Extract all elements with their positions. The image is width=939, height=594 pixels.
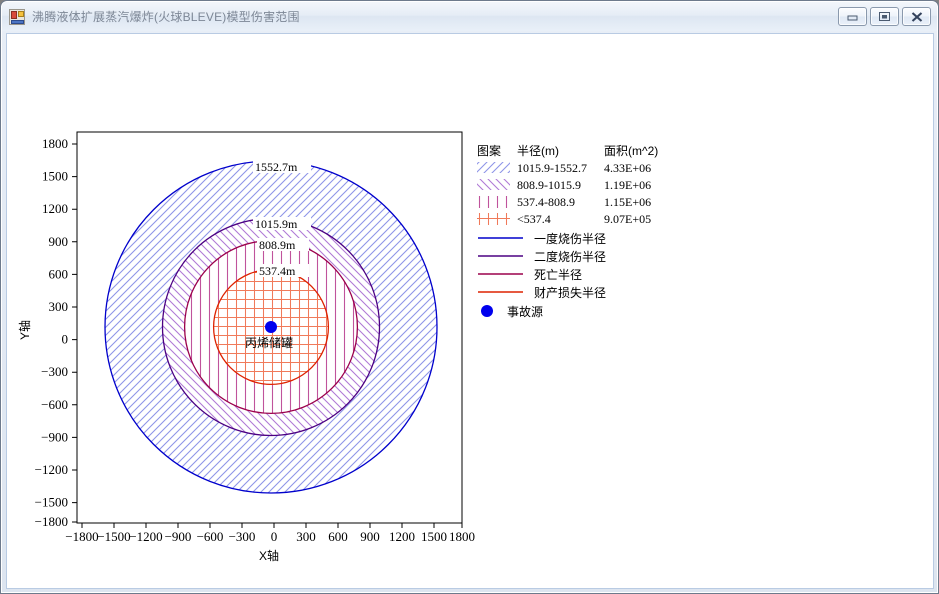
legend-row-marker: 事故源 <box>481 304 543 319</box>
x-tick-label: 1800 <box>449 529 475 544</box>
legend-header-radius: 半径(m) <box>517 144 559 158</box>
x-tick-label: 300 <box>296 529 316 544</box>
y-axis: 1800 1500 1200 900 600 300 0 −300 −600 −… <box>17 136 77 529</box>
x-tick-label: 0 <box>271 529 278 544</box>
x-tick-label: 1200 <box>389 529 415 544</box>
x-axis-title: X轴 <box>259 548 279 563</box>
legend-swatch-vertical-icon <box>477 196 510 208</box>
x-tick-label: −1500 <box>97 529 130 544</box>
y-tick-label: −1200 <box>35 462 68 477</box>
y-tick-label: 1500 <box>42 169 68 184</box>
x-tick-label: −1200 <box>129 529 162 544</box>
legend-band-area: 1.15E+06 <box>604 195 651 209</box>
close-button[interactable] <box>902 7 931 26</box>
x-tick-label: −300 <box>229 529 256 544</box>
legend-row-band: 808.9-1015.9 1.19E+06 <box>477 178 651 192</box>
legend-row-line: 财产损失半径 <box>478 285 606 300</box>
y-tick-label: −600 <box>41 397 68 412</box>
legend-line-label: 一度烧伤半径 <box>534 231 606 246</box>
legend-band-area: 1.19E+06 <box>604 178 651 192</box>
chart-legend: 图案 半径(m) 面积(m^2) 1015.9-1552.7 4.33E+06 … <box>477 143 658 319</box>
y-tick-label: −300 <box>41 364 68 379</box>
legend-row-band: 1015.9-1552.7 4.33E+06 <box>477 161 651 175</box>
legend-line-label: 死亡半径 <box>534 268 582 282</box>
legend-row-band: 537.4-808.9 1.15E+06 <box>477 195 651 209</box>
legend-header-pattern: 图案 <box>477 143 501 158</box>
x-tick-label: 600 <box>328 529 348 544</box>
y-tick-label: 0 <box>62 332 69 347</box>
legend-band-radius: 537.4-808.9 <box>517 195 575 209</box>
legend-line-label: 二度烧伤半径 <box>534 249 606 264</box>
x-tick-label: 1500 <box>421 529 447 544</box>
legend-band-radius: 1015.9-1552.7 <box>517 161 587 175</box>
minimize-button[interactable] <box>838 7 867 26</box>
y-tick-label: 600 <box>49 266 69 281</box>
legend-row-line: 一度烧伤半径 <box>478 231 606 246</box>
y-tick-label: −1500 <box>35 495 68 510</box>
app-window-icon <box>9 9 25 25</box>
radius-label-3: 808.9m <box>259 238 296 252</box>
chart-canvas: 1552.7m 1015.9m 808.9m 537.4m 丙烯储罐 1800 … <box>7 34 933 588</box>
minimize-icon <box>846 11 859 22</box>
y-tick-label: 1800 <box>42 136 68 151</box>
y-tick-label: 300 <box>49 299 69 314</box>
client-area: 1552.7m 1015.9m 808.9m 537.4m 丙烯储罐 1800 … <box>6 33 934 589</box>
close-icon <box>910 11 924 23</box>
accident-source-marker <box>265 321 277 333</box>
legend-header-area: 面积(m^2) <box>604 144 658 158</box>
legend-row-line: 二度烧伤半径 <box>478 249 606 264</box>
legend-band-area: 9.07E+05 <box>604 212 651 226</box>
window-title: 沸腾液体扩展蒸汽爆炸(火球BLEVE)模型伤害范围 <box>32 8 300 25</box>
radius-label-2: 1015.9m <box>255 217 298 231</box>
legend-swatch-diagonal-forward-icon <box>477 162 510 173</box>
radius-label-4: 537.4m <box>259 264 296 278</box>
y-tick-label: −1800 <box>35 514 68 529</box>
legend-band-radius: <537.4 <box>517 212 551 226</box>
legend-accident-source-icon <box>481 305 493 317</box>
legend-swatch-cross-hatch-icon <box>477 213 510 225</box>
y-axis-ticks <box>72 144 77 522</box>
legend-band-area: 4.33E+06 <box>604 161 651 175</box>
legend-swatch-diagonal-back-icon <box>477 179 510 190</box>
application-window: 沸腾液体扩展蒸汽爆炸(火球BLEVE)模型伤害范围 <box>0 0 939 594</box>
radius-label-1: 1552.7m <box>255 160 298 174</box>
legend-row-band: <537.4 9.07E+05 <box>477 212 651 226</box>
accident-source-label: 丙烯储罐 <box>245 335 293 350</box>
window-controls <box>838 7 931 26</box>
x-tick-label: −600 <box>197 529 224 544</box>
legend-row-line: 死亡半径 <box>478 268 582 282</box>
x-axis-ticks <box>82 523 462 528</box>
damage-range-chart: 1552.7m 1015.9m 808.9m 537.4m 丙烯储罐 1800 … <box>7 34 933 588</box>
x-tick-label: 900 <box>360 529 380 544</box>
legend-band-radius: 808.9-1015.9 <box>517 178 581 192</box>
x-axis: −1800 −1500 −1200 −900 −600 −300 0 300 6… <box>65 523 475 563</box>
legend-line-label: 财产损失半径 <box>534 285 606 300</box>
x-tick-label: −900 <box>165 529 192 544</box>
maximize-icon <box>878 11 891 22</box>
legend-marker-label: 事故源 <box>507 304 543 319</box>
y-tick-label: 900 <box>49 234 69 249</box>
x-tick-label: −1800 <box>65 529 98 544</box>
y-axis-title: Y轴 <box>17 320 32 340</box>
y-tick-label: 1200 <box>42 201 68 216</box>
y-tick-label: −900 <box>41 429 68 444</box>
maximize-button[interactable] <box>870 7 899 26</box>
title-bar[interactable]: 沸腾液体扩展蒸汽爆炸(火球BLEVE)模型伤害范围 <box>2 2 937 31</box>
